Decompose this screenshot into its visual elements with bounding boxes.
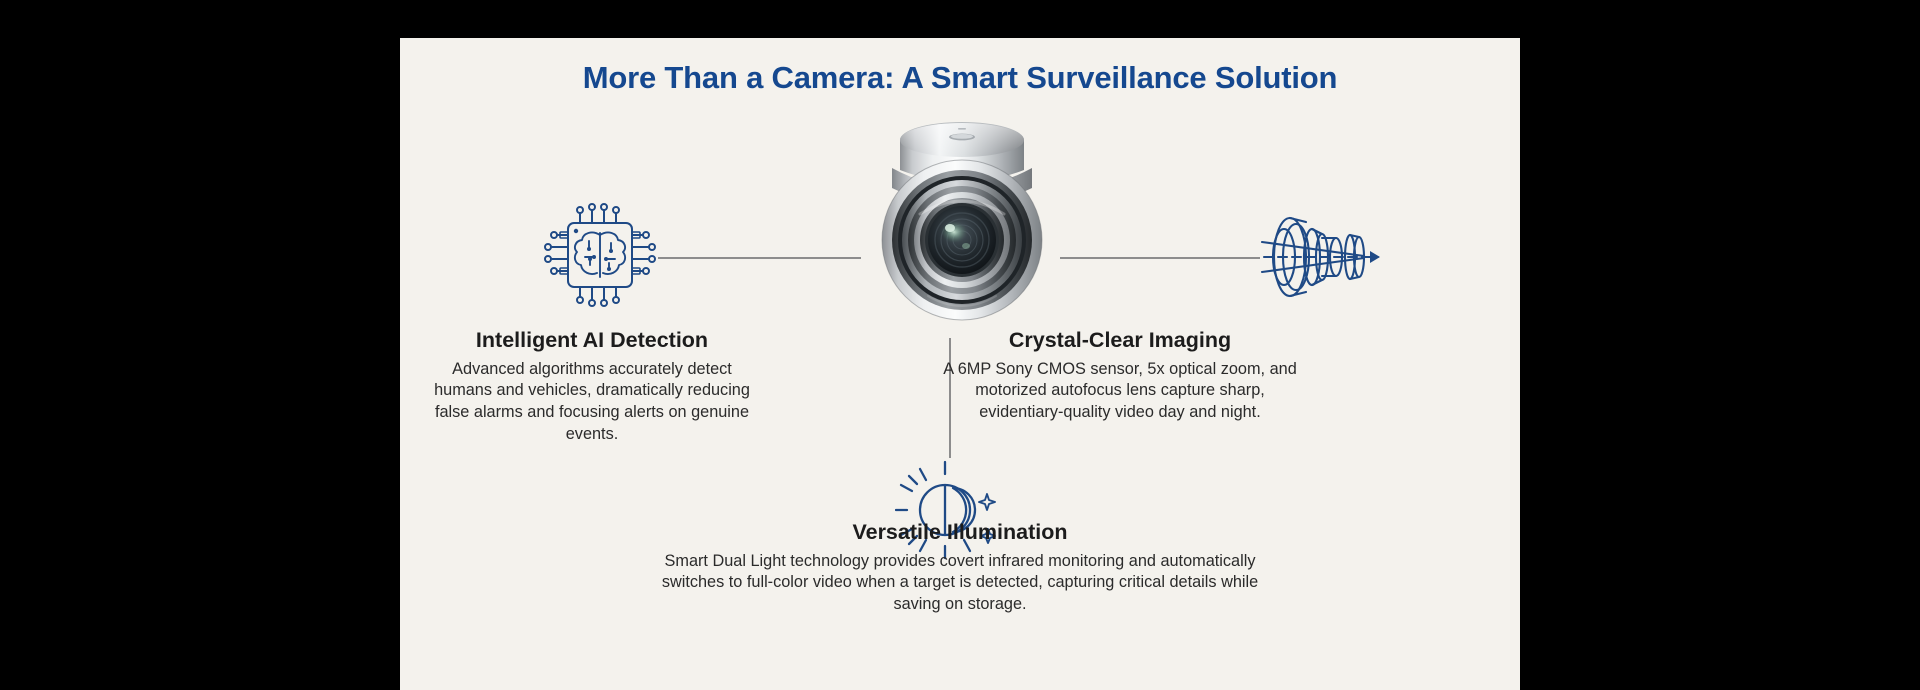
ai-chip-brain-icon <box>542 201 658 313</box>
camera-lens-photo <box>862 110 1062 332</box>
feature-intelligent-ai-detection: Intelligent AI Detection Advanced algori… <box>422 328 762 445</box>
connector-line-left <box>658 257 861 259</box>
feature-crystal-clear-imaging: Crystal-Clear Imaging A 6MP Sony CMOS se… <box>940 328 1300 424</box>
feature-versatile-illumination: Versatile Illumination Smart Dual Light … <box>655 520 1265 616</box>
connector-line-right <box>1060 257 1260 259</box>
feature-title: Crystal-Clear Imaging <box>940 328 1300 354</box>
page-title: More Than a Camera: A Smart Surveillance… <box>400 60 1520 96</box>
feature-body: A 6MP Sony CMOS sensor, 5x optical zoom,… <box>940 359 1300 424</box>
infographic-panel: More Than a Camera: A Smart Surveillance… <box>400 38 1520 690</box>
feature-title: Versatile Illumination <box>655 520 1265 546</box>
feature-body: Smart Dual Light technology provides cov… <box>655 551 1265 616</box>
feature-body: Advanced algorithms accurately detect hu… <box>422 359 762 446</box>
optical-lens-zoom-icon <box>1260 206 1386 308</box>
infographic-canvas: More Than a Camera: A Smart Surveillance… <box>0 0 1920 690</box>
feature-title: Intelligent AI Detection <box>422 328 762 354</box>
